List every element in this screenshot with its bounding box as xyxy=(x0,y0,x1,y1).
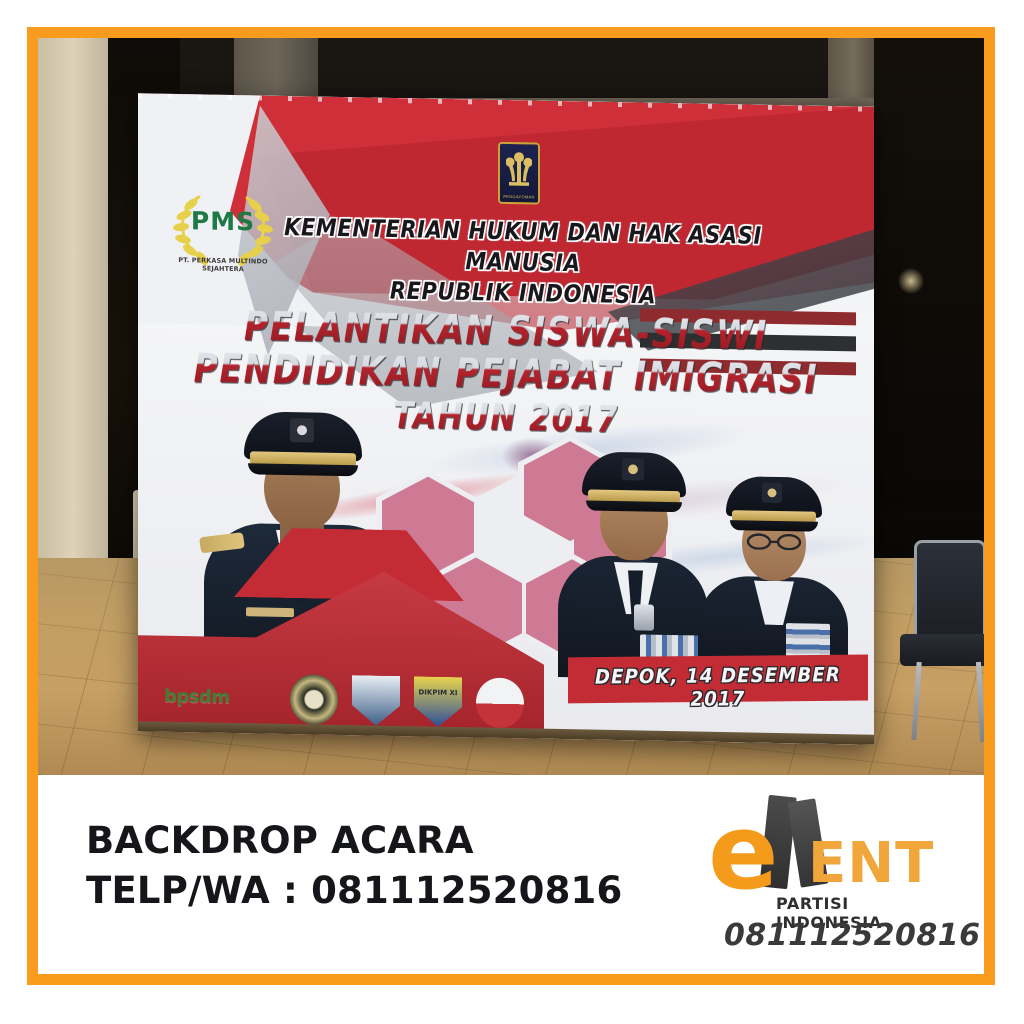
ministry-name-block: KEMENTERIAN HUKUM DAN HAK ASASI MANUSIA … xyxy=(243,212,803,315)
brand-mark-ent: ENT xyxy=(808,836,934,892)
blue-shield-icon xyxy=(352,675,400,726)
backdrop-banner: PMS PT. PERKASA MULTINDO SEJAHTERA xyxy=(138,93,874,744)
ministry-name-line1: KEMENTERIAN HUKUM DAN HAK ASASI MANUSIA xyxy=(243,212,803,284)
caption-area: BACKDROP ACARA TELP/WA : 081112520816 e … xyxy=(38,786,984,974)
brand-phone: 081112520816 xyxy=(724,918,981,953)
screenshot-root: PMS PT. PERKASA MULTINDO SEJAHTERA xyxy=(0,0,1024,1024)
caption-line-2: TELP/WA : 081112520816 xyxy=(86,866,622,916)
hall-wall-left xyxy=(38,38,108,598)
banner-surface: PMS PT. PERKASA MULTINDO SEJAHTERA xyxy=(138,93,874,744)
bpsdm-wordmark-logo: bpsdm xyxy=(164,686,230,708)
banner-date-text: DEPOK, 14 DESEMBER 2017 xyxy=(568,663,868,712)
officer-photo-right-pair xyxy=(558,437,848,682)
gold-crest-icon xyxy=(290,674,338,725)
chair-backrest xyxy=(914,540,984,648)
ceiling-light-glow xyxy=(898,268,924,294)
brand-mark-e: e xyxy=(708,800,779,904)
product-photo: PMS PT. PERKASA MULTINDO SEJAHTERA xyxy=(38,38,984,775)
banyan-tree-icon xyxy=(506,151,532,189)
caption-line-1: BACKDROP ACARA xyxy=(86,816,622,866)
banner-date-band: DEPOK, 14 DESEMBER 2017 xyxy=(568,654,868,703)
chair-seat xyxy=(900,634,984,666)
eyeglasses-icon xyxy=(746,532,802,550)
room-right-dark-area xyxy=(874,38,984,508)
ministry-emblem: PENGAYOMAN xyxy=(498,142,540,205)
dikpim-shield-label: DIKPIM XI xyxy=(414,688,462,697)
red-white-round-icon xyxy=(476,677,524,728)
yellow-blue-shield-icon: DIKPIM XI xyxy=(414,676,462,727)
emblem-caption: PENGAYOMAN xyxy=(500,194,538,200)
caption-text-block: BACKDROP ACARA TELP/WA : 081112520816 xyxy=(86,816,622,916)
event-partisi-brand-logo: e ENT PARTISI INDONESIA 081112520816 xyxy=(702,794,952,964)
